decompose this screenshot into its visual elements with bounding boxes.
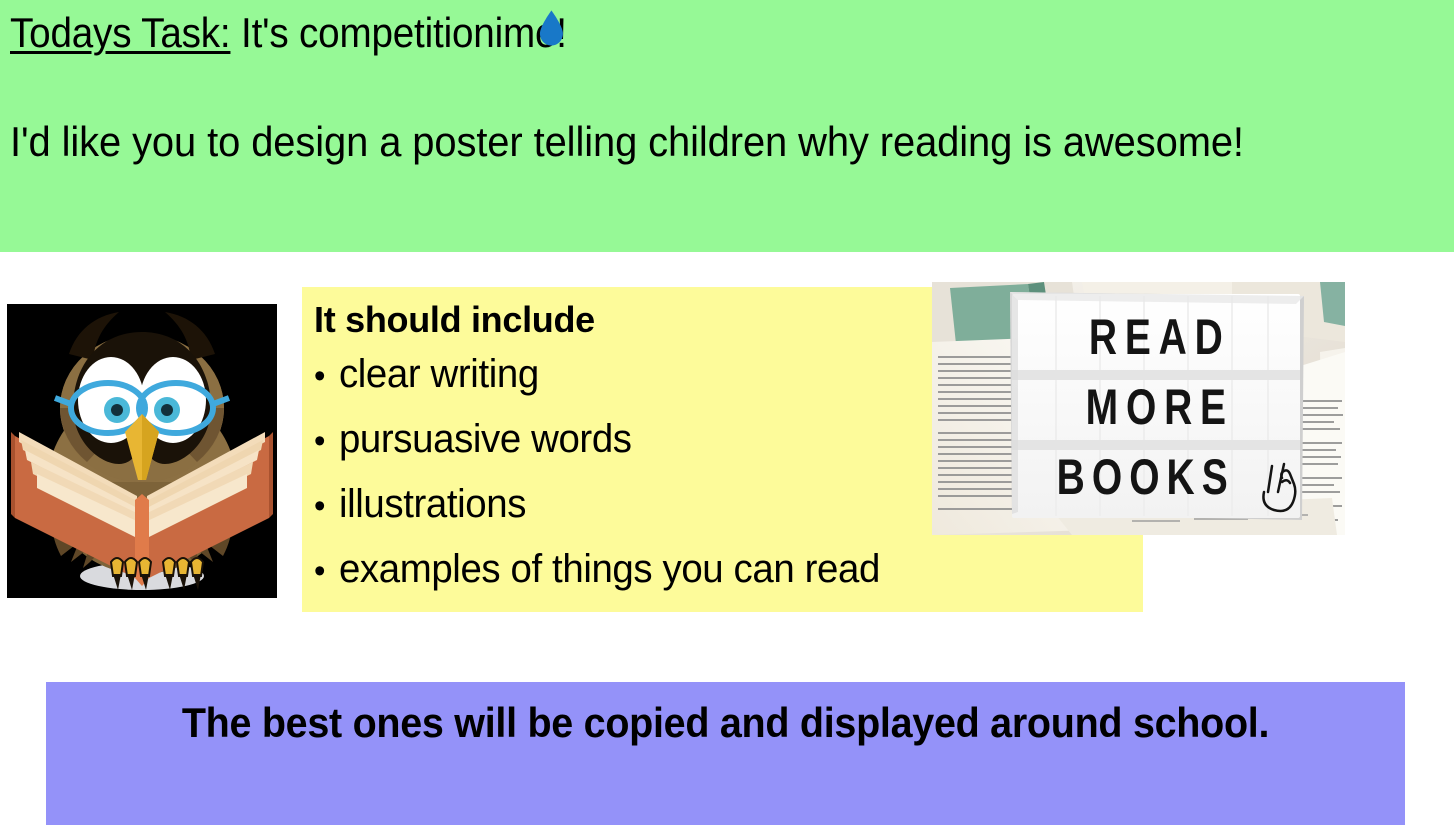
bullet-glyph: •	[314, 410, 339, 473]
owl-illustration-icon	[7, 304, 277, 598]
svg-text:MORE: MORE	[1086, 378, 1234, 435]
display-note-text: The best ones will be copied and display…	[87, 692, 1364, 754]
task-label: Todays Task:	[10, 9, 230, 56]
read-more-books-photo: READ MORE BOOKS	[932, 282, 1345, 535]
svg-text:READ: READ	[1089, 308, 1231, 365]
display-note-banner: The best ones will be copied and display…	[46, 682, 1405, 825]
task-title-text-tail: ime!	[495, 9, 567, 56]
list-item: •examples of things you can read	[314, 538, 1110, 603]
svg-text:BOOKS: BOOKS	[1057, 448, 1235, 505]
task-title-line: Todays Task: It's competitionime!	[10, 6, 1329, 60]
list-item-label: examples of things you can read	[339, 547, 880, 591]
owl-reading-image	[7, 304, 277, 598]
list-item-label: clear writing	[339, 352, 539, 396]
task-header-banner: Todays Task: It's competitionime! I'd li…	[0, 0, 1454, 252]
bullet-glyph: •	[314, 475, 339, 538]
lightbox-sign-photo-icon: READ MORE BOOKS	[932, 282, 1345, 535]
task-brief-text: I'd like you to design a poster telling …	[10, 112, 1445, 172]
list-item-label: illustrations	[339, 482, 526, 526]
bullet-glyph: •	[314, 345, 339, 408]
task-title-text: It's competition	[241, 9, 495, 56]
list-item-label: pursuasive words	[339, 417, 632, 461]
bullet-glyph: •	[314, 540, 339, 603]
